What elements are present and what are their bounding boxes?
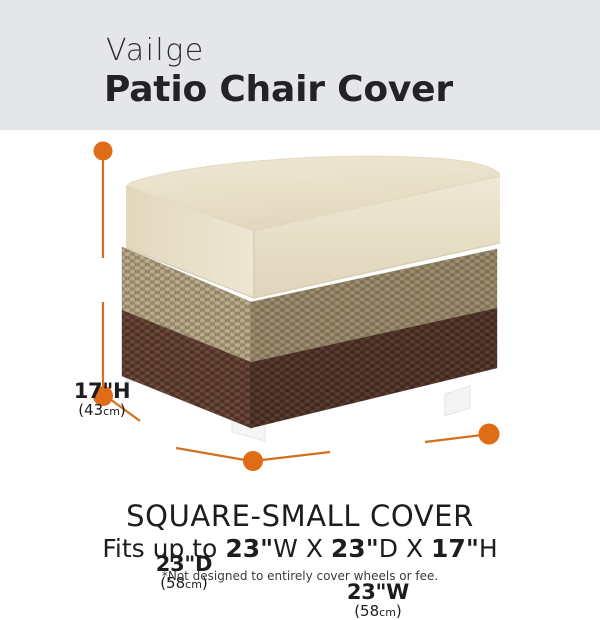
fits-width-unit: W xyxy=(273,534,298,563)
header-band: Vailge Patio Chair Cover xyxy=(0,0,600,130)
cover-type-heading: SQUARE-SMALL COVER xyxy=(0,500,600,532)
page-title: Patio Chair Cover xyxy=(104,72,453,108)
marker-corner-bottom xyxy=(243,451,263,471)
depth-line-lower xyxy=(176,448,245,460)
fits-separator-1: X xyxy=(298,534,331,563)
width-metric: (58cm) xyxy=(332,603,424,620)
dimension-label-height: 17"H (43cm) xyxy=(62,380,142,419)
dimension-label-width: 23"W (58cm) xyxy=(332,581,424,620)
product-dimension-diagram: Vailge Patio Chair Cover xyxy=(0,0,600,600)
height-metric: (43cm) xyxy=(62,402,142,419)
height-value: 17"H xyxy=(62,380,142,402)
footnote: *Not designed to entirely cover wheels o… xyxy=(0,569,600,583)
fits-prefix: Fits up to xyxy=(102,534,225,563)
width-line-right xyxy=(425,435,482,442)
ottoman-illustration: 17"H (43cm) 23"D (58cm) 23"W (58cm) xyxy=(0,130,600,500)
fits-up-to-line: Fits up to 23"W X 23"D X 17"H xyxy=(0,534,600,564)
marker-height-top xyxy=(94,142,113,161)
fits-width-value: 23" xyxy=(225,534,273,563)
fits-height-unit: H xyxy=(479,534,498,563)
fits-separator-2: X xyxy=(398,534,431,563)
fits-depth-unit: D xyxy=(379,534,398,563)
width-line-left xyxy=(262,452,330,460)
fits-height-value: 17" xyxy=(431,534,479,563)
brand-name: Vailge xyxy=(106,36,205,66)
marker-width-right xyxy=(479,424,500,445)
footer-block: SQUARE-SMALL COVER Fits up to 23"W X 23"… xyxy=(0,500,600,584)
fits-depth-value: 23" xyxy=(331,534,379,563)
